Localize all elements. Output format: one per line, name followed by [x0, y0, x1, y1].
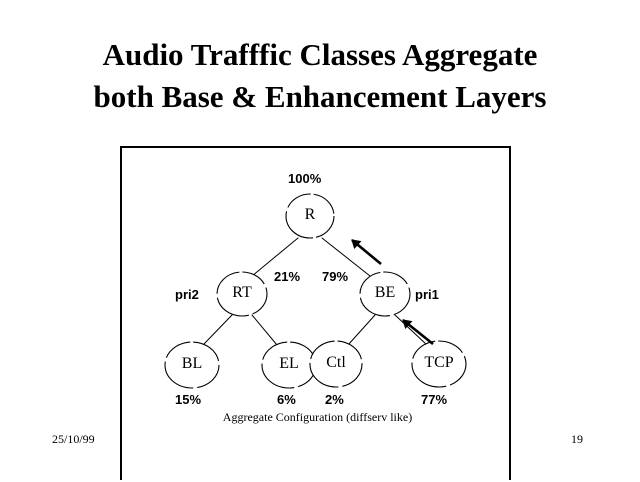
tree-node-tcp[interactable]: TCP [416, 344, 462, 384]
tree-node-ctl-label: Ctl [326, 355, 346, 371]
percent-label-el: 6% [277, 393, 296, 406]
diagram-caption: Aggregate Configuration (diffserv like) [122, 410, 513, 425]
tree-node-r-label: R [305, 207, 316, 223]
annotation-arrow-lower [403, 320, 433, 344]
edge-be-ctl [348, 315, 375, 345]
tree-node-el[interactable]: EL [266, 345, 312, 385]
page-title-line-2: both Base & Enhancement Layers [0, 76, 640, 118]
tree-node-bl-label: BL [182, 356, 202, 372]
tree-node-be-label: BE [375, 285, 395, 301]
edge-rt-el [252, 315, 277, 345]
percent-label-bl: 15% [175, 393, 201, 406]
percent-label-ctl: 2% [325, 393, 344, 406]
priority-label-pri2: pri2 [175, 288, 199, 301]
page-title: Audio Trafffic Classes Aggregate both Ba… [0, 34, 640, 118]
annotation-arrow-upper [352, 240, 381, 264]
tree-node-rt[interactable]: RT [219, 274, 265, 314]
tree-node-tcp-label: TCP [424, 355, 453, 371]
footer-page-number: 19 [571, 432, 583, 447]
tree-node-ctl[interactable]: Ctl [313, 344, 359, 384]
edge-rt-bl [203, 315, 232, 345]
percent-label-r: 100% [288, 172, 321, 185]
percent-label-rt: 21% [274, 270, 300, 283]
priority-label-pri1: pri1 [415, 288, 439, 301]
diagram-frame: R RT BE BL EL Ctl TCP 100% 21% 79% 15% 6… [120, 146, 511, 480]
percent-label-be: 79% [322, 270, 348, 283]
footer-date: 25/10/99 [52, 432, 95, 447]
tree-node-rt-label: RT [232, 285, 251, 301]
percent-label-tcp: 77% [421, 393, 447, 406]
edge-be-tcp [395, 315, 427, 345]
page-title-line-1: Audio Trafffic Classes Aggregate [0, 34, 640, 76]
tree-node-bl[interactable]: BL [169, 345, 215, 385]
tree-node-r[interactable]: R [287, 196, 333, 236]
tree-node-el-label: EL [279, 356, 299, 372]
tree-node-be[interactable]: BE [362, 274, 408, 314]
